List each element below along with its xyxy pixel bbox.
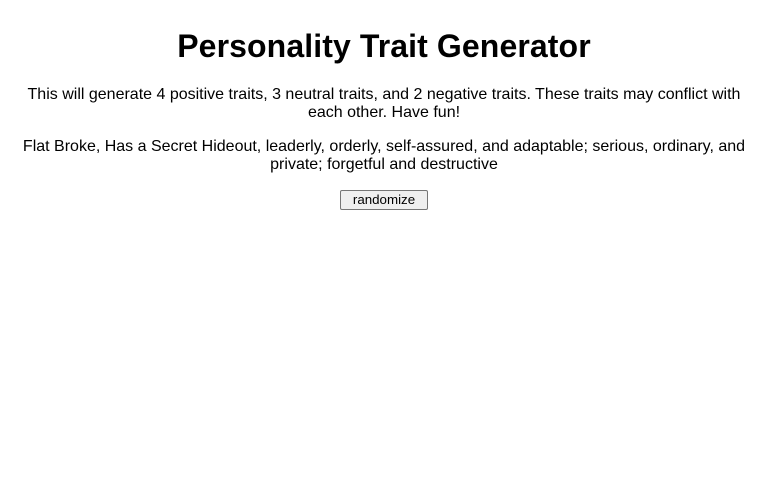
page-title: Personality Trait Generator bbox=[8, 29, 760, 65]
page-container: Personality Trait Generator This will ge… bbox=[0, 0, 768, 480]
description-text: This will generate 4 positive traits, 3 … bbox=[8, 86, 760, 122]
button-row: randomize bbox=[8, 190, 760, 210]
randomize-button[interactable]: randomize bbox=[340, 190, 428, 210]
generated-traits-text: Flat Broke, Has a Secret Hideout, leader… bbox=[8, 138, 760, 174]
